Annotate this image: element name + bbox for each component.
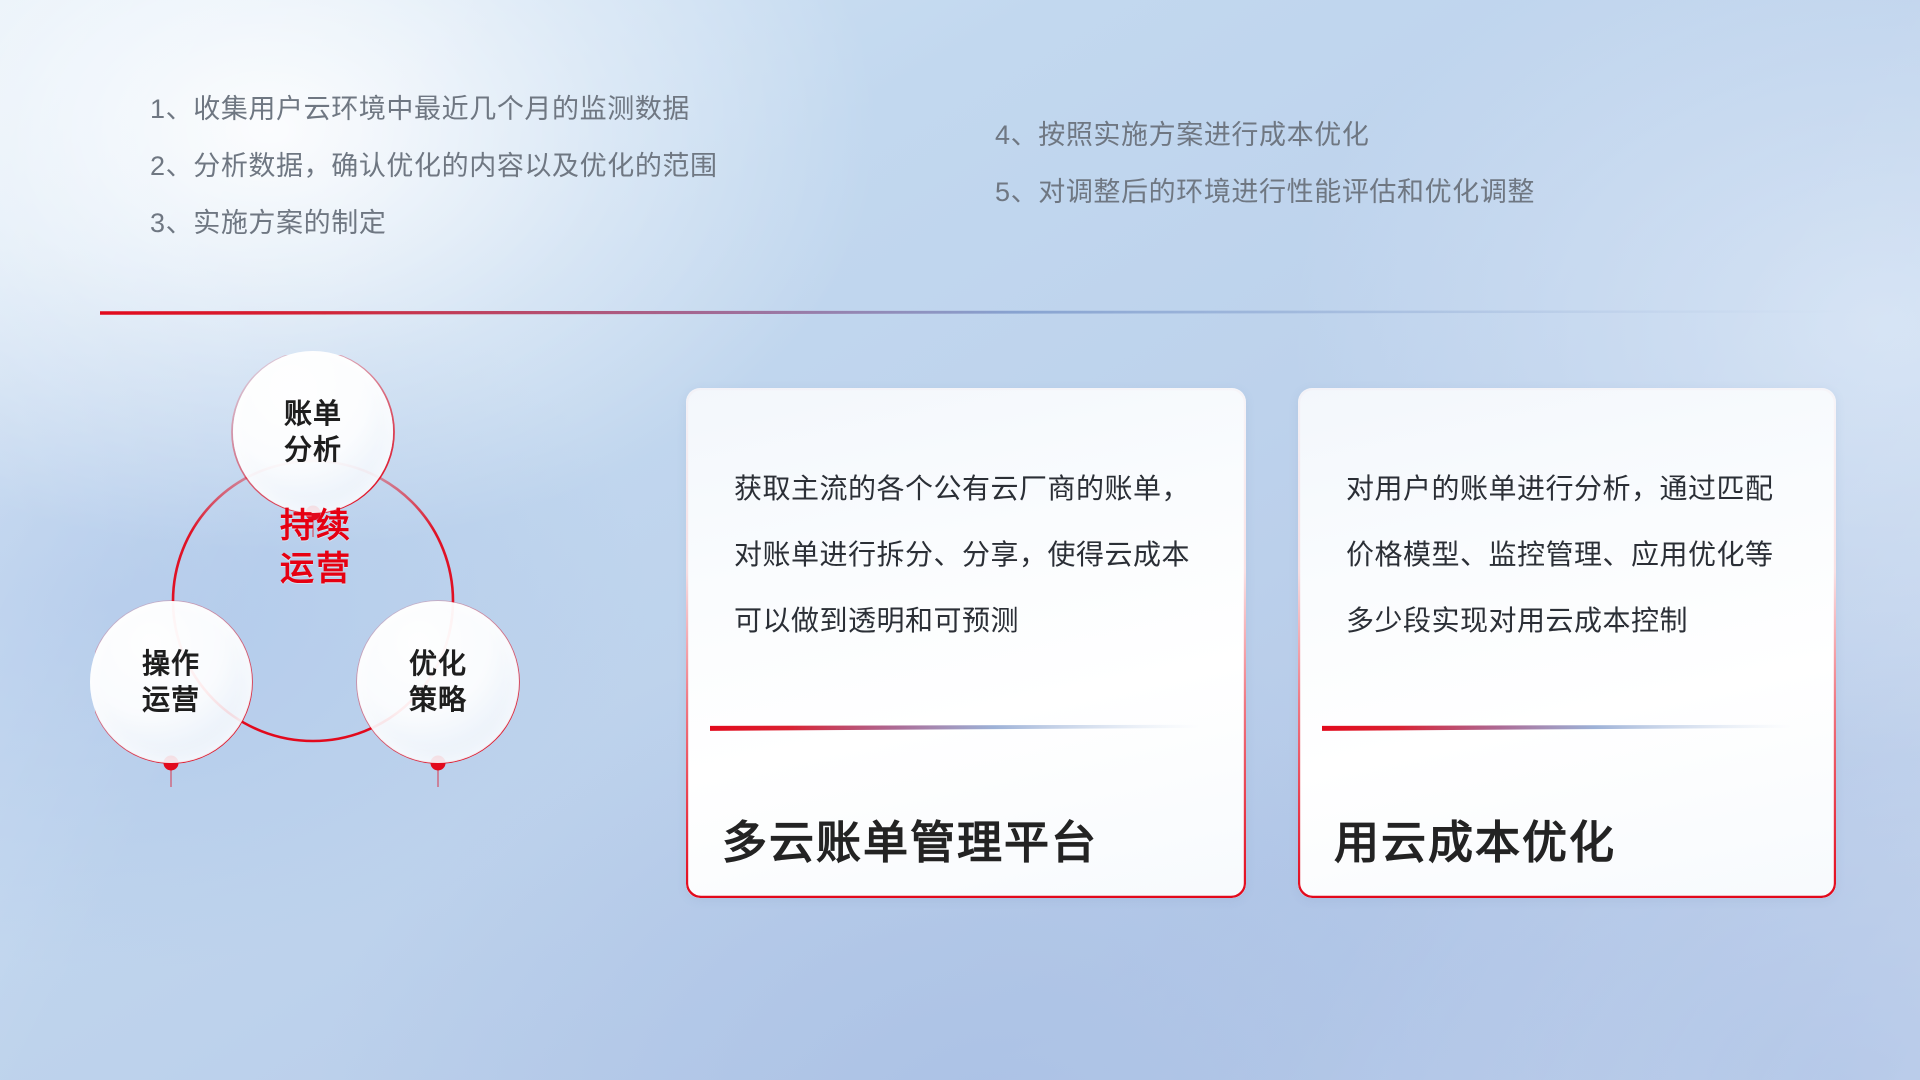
card-2-body: 对用户的账单进行分析，通过匹配价格模型、监控管理、应用优化等多少段实现对用云成本… — [1346, 456, 1800, 653]
card-2-title: 用云成本优化 — [1334, 806, 1616, 871]
bubble-bill-analysis[interactable]: 账单 分析 — [233, 351, 393, 513]
card-1-body: 获取主流的各个公有云厂商的账单，对账单进行拆分、分享，使得云成本可以做到透明和可… — [734, 456, 1210, 653]
bubble-top-line1: 账单 — [284, 396, 342, 432]
card-multicloud-billing[interactable]: 获取主流的各个公有云厂商的账单，对账单进行拆分、分享，使得云成本可以做到透明和可… — [686, 388, 1246, 898]
bubble-left-line2: 运营 — [142, 682, 200, 718]
card-cloud-cost-optimization[interactable]: 对用户的账单进行分析，通过匹配价格模型、监控管理、应用优化等多少段实现对用云成本… — [1298, 388, 1836, 898]
card-2-rule — [1322, 724, 1792, 731]
bubble-left-line1: 操作 — [142, 646, 200, 682]
bubble-optimization-strategy[interactable]: 优化 策略 — [357, 601, 519, 763]
slide-canvas: 1、收集用户云环境中最近几个月的监测数据 2、分析数据，确认优化的内容以及优化的… — [0, 0, 1920, 1080]
bullet-left-2: 2、分析数据，确认优化的内容以及优化的范围 — [150, 153, 718, 180]
card-1-title: 多云账单管理平台 — [722, 806, 1098, 871]
bullet-list-right: 4、按照实施方案进行成本优化 5、对调整后的环境进行性能评估和优化调整 — [995, 122, 1535, 206]
bubble-right-line2: 策略 — [409, 682, 467, 718]
bullet-left-3: 3、实施方案的制定 — [150, 210, 718, 237]
card-1-rule — [710, 724, 1200, 731]
bullet-left-1: 1、收集用户云环境中最近几个月的监测数据 — [150, 96, 718, 123]
bullet-list-left: 1、收集用户云环境中最近几个月的监测数据 2、分析数据，确认优化的内容以及优化的… — [150, 96, 718, 237]
bubble-operations[interactable]: 操作 运营 — [90, 601, 252, 763]
center-label-line1: 持续 — [231, 505, 401, 548]
bubble-right-line1: 优化 — [409, 646, 467, 682]
bullet-right-2: 5、对调整后的环境进行性能评估和优化调整 — [995, 179, 1535, 206]
bullet-right-1: 4、按照实施方案进行成本优化 — [995, 122, 1535, 149]
center-label-line2: 运营 — [231, 548, 401, 591]
continuous-operation-diagram: 账单 分析 操作 运营 优化 策略 持续 运营 — [95, 355, 655, 945]
section-divider-rule — [100, 310, 1860, 315]
bubble-top-line2: 分析 — [284, 432, 342, 468]
diagram-center-label: 持续 运营 — [231, 505, 401, 591]
